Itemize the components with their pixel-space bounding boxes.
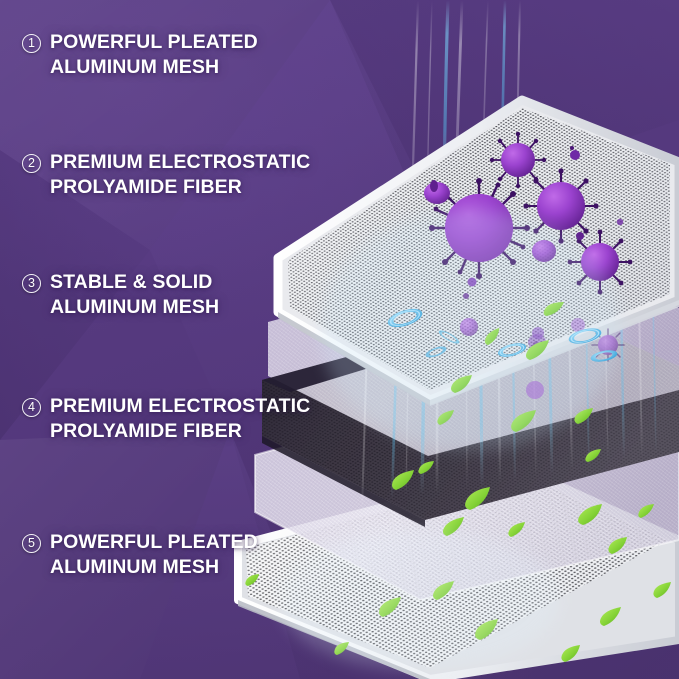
layer-label-text-1: POWERFUL PLEATED ALUMINUM MESH (50, 30, 258, 80)
layer-label-text-3: STABLE & SOLID ALUMINUM MESH (50, 270, 219, 320)
layer-label-4[interactable]: 4 PREMIUM ELECTROSTATIC PROLYAMIDE FIBER (22, 394, 310, 444)
layer-number-badge-1: 1 (22, 34, 41, 53)
layer-label-2[interactable]: 2 PREMIUM ELECTROSTATIC PROLYAMIDE FIBER (22, 150, 310, 200)
layer-number-badge-3: 3 (22, 274, 41, 293)
layer-label-text-4: PREMIUM ELECTROSTATIC PROLYAMIDE FIBER (50, 394, 310, 444)
layer-label-text-5: POWERFUL PLEATED ALUMINUM MESH (50, 530, 258, 580)
layer-number-badge-2: 2 (22, 154, 41, 173)
layer-label-3[interactable]: 3 STABLE & SOLID ALUMINUM MESH (22, 270, 219, 320)
layer-number-badge-5: 5 (22, 534, 41, 553)
layer-label-1[interactable]: 1 POWERFUL PLEATED ALUMINUM MESH (22, 30, 258, 80)
layer-label-text-2: PREMIUM ELECTROSTATIC PROLYAMIDE FIBER (50, 150, 310, 200)
infographic-stage: 1 POWERFUL PLEATED ALUMINUM MESH 2 PREMI… (0, 0, 679, 679)
layer-number-badge-4: 4 (22, 398, 41, 417)
layer-label-5[interactable]: 5 POWERFUL PLEATED ALUMINUM MESH (22, 530, 258, 580)
